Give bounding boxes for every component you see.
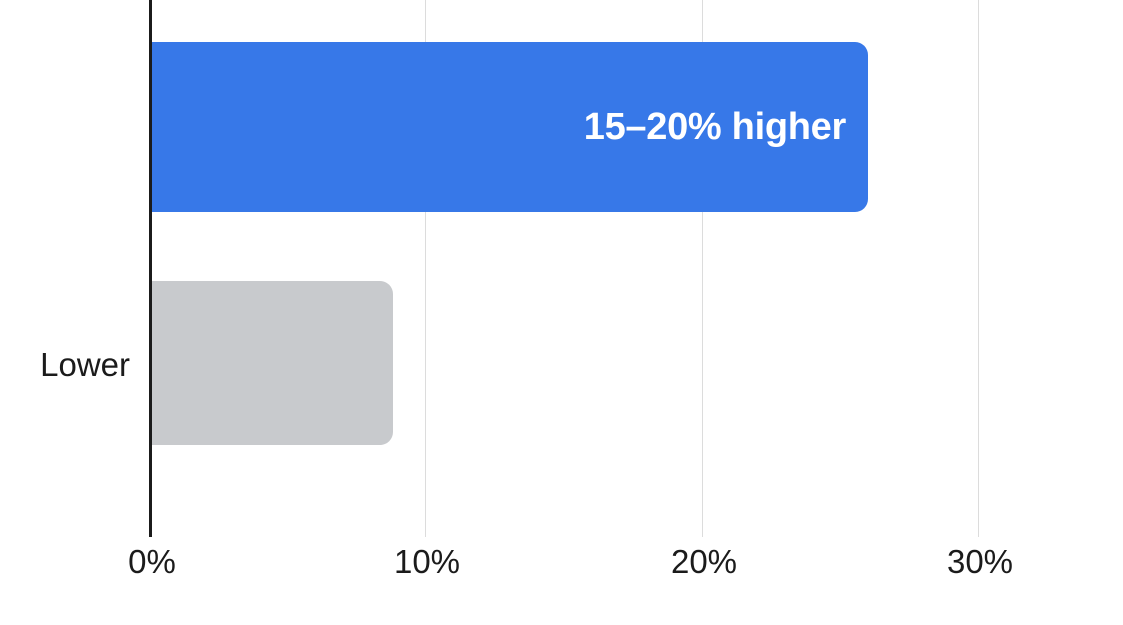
category-label-lower: Lower [40, 348, 130, 381]
higher-bar-value-label: 15–20% higher [584, 106, 868, 149]
xtick-label-30: 30% [947, 545, 1013, 578]
y-axis-line [149, 0, 152, 537]
lower-bar[interactable] [150, 281, 393, 445]
xtick-label-0: 0% [128, 545, 176, 578]
bar-chart: 15–20% higher Lower 0% 10% 20% 30% [0, 0, 1123, 625]
xtick-label-20: 20% [671, 545, 737, 578]
gridline-30pct [978, 0, 979, 537]
higher-bar[interactable]: 15–20% higher [150, 42, 868, 212]
xtick-label-10: 10% [394, 545, 460, 578]
plot-area: 15–20% higher [0, 0, 1123, 537]
